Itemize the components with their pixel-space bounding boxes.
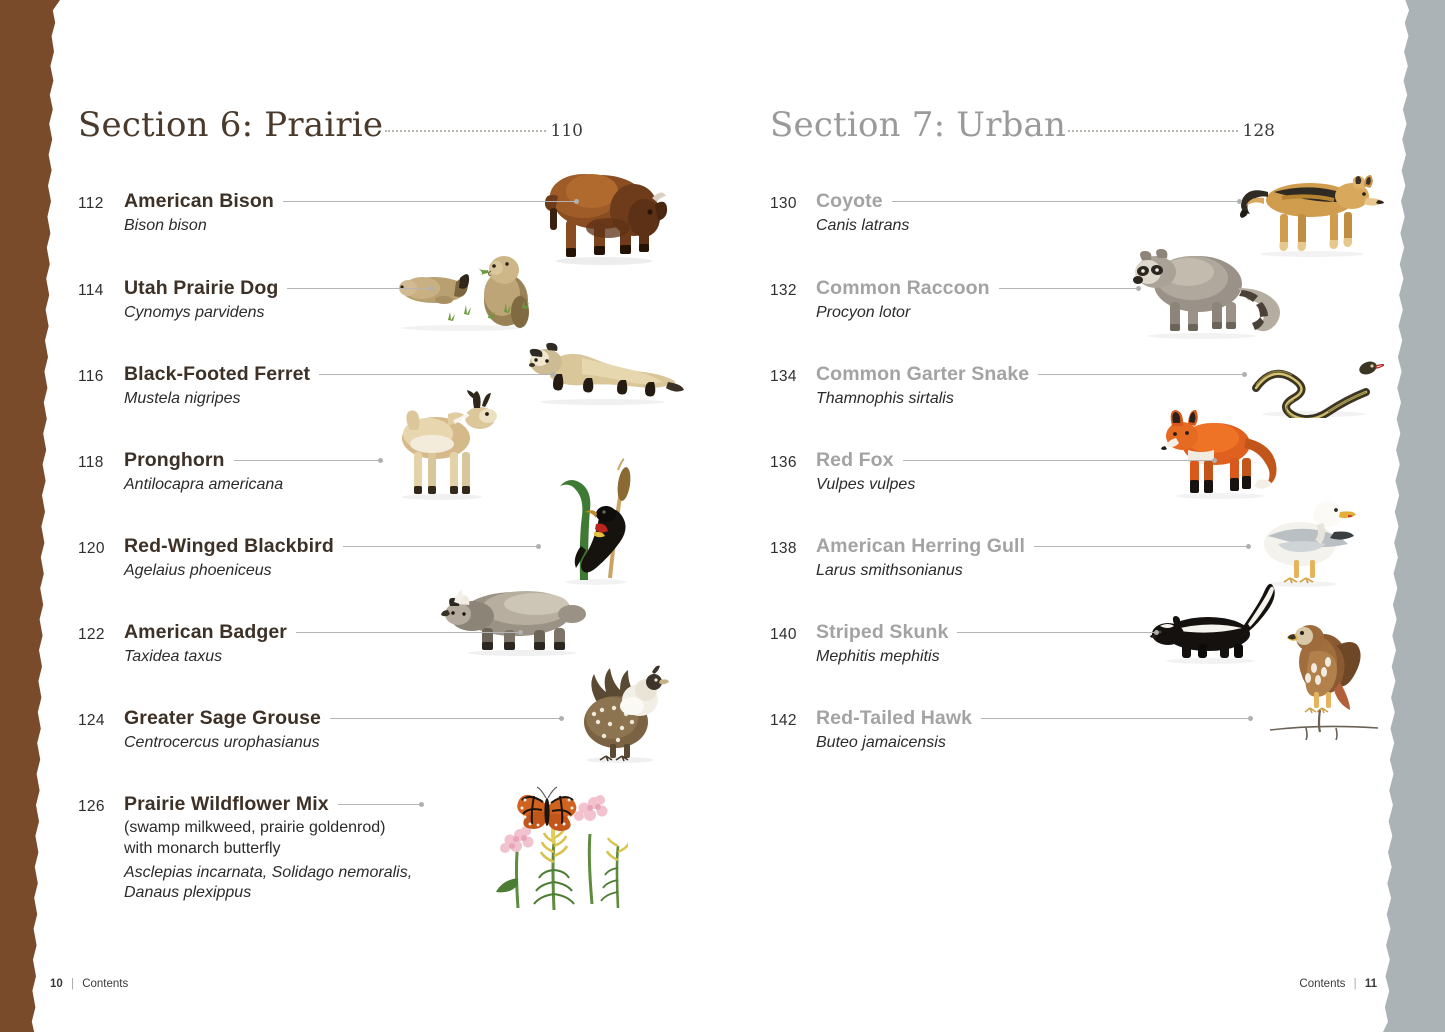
leader-line — [903, 460, 1215, 461]
leader-line — [1034, 546, 1249, 547]
entry-scientific-name: Larus smithsonianus — [816, 561, 1391, 581]
leader-line — [981, 718, 1251, 719]
entry-page-number: 136 — [770, 454, 814, 472]
entry-common-name: American Herring Gull — [816, 535, 1025, 558]
leader-line — [319, 374, 554, 375]
dot-leader — [1068, 130, 1237, 132]
page-footer: 10 | Contents Contents | 11 — [0, 962, 1445, 1032]
entry-common-name: Red-Tailed Hawk — [816, 707, 972, 730]
entry-common-name: Red Fox — [816, 449, 894, 472]
section-header-prairie[interactable]: Section 6: Prairie 110 — [78, 105, 583, 145]
footer-left: 10 | Contents — [50, 978, 128, 990]
entry-common-name: Striped Skunk — [816, 621, 948, 644]
footer-label-left: Contents — [82, 978, 128, 990]
leader-line — [287, 288, 432, 289]
leader-line — [296, 632, 521, 633]
entry-scientific-name: Mustela nigripes — [124, 389, 699, 409]
leader-line — [283, 201, 577, 202]
entry-page-number: 140 — [770, 626, 814, 644]
footer-separator: | — [1354, 978, 1357, 990]
entry-page-number: 118 — [78, 454, 122, 472]
leader-line — [330, 718, 562, 719]
leader-line — [343, 546, 539, 547]
column-left-section-6: Section 6: Prairie 110 112 American Biso… — [78, 0, 698, 940]
entry-page-number: 122 — [78, 626, 122, 644]
entry-page-number: 134 — [770, 368, 814, 386]
entry-scientific-name: Vulpes vulpes — [816, 475, 1391, 495]
entry-scientific-name: Asclepias incarnata, Solidago nemoralis,… — [124, 863, 699, 904]
leader-line — [957, 632, 1157, 633]
entry-page-number: 124 — [78, 712, 122, 730]
section-title: Section 6: Prairie — [78, 105, 383, 145]
entry-scientific-name: Cynomys parvidens — [124, 303, 699, 323]
leader-line — [338, 804, 422, 805]
dot-leader — [385, 130, 545, 132]
entry-common-name: Common Garter Snake — [816, 363, 1029, 386]
footer-separator: | — [71, 978, 74, 990]
section-header-urban[interactable]: Section 7: Urban 128 — [770, 105, 1275, 145]
entry-scientific-name: Canis latrans — [816, 216, 1391, 236]
entry-common-name: American Bison — [124, 190, 274, 213]
column-right-section-7: Section 7: Urban 128 130 Coyote Canis la… — [770, 0, 1390, 940]
entry-page-number: 142 — [770, 712, 814, 730]
entry-scientific-name: Thamnophis sirtalis — [816, 389, 1391, 409]
entry-scientific-name: Buteo jamaicensis — [816, 733, 1391, 753]
entry-common-name: Prairie Wildflower Mix — [124, 793, 329, 816]
footer-right: Contents | 11 — [1299, 978, 1377, 990]
entry-scientific-name: Bison bison — [124, 216, 699, 236]
entry-scientific-name: Procyon lotor — [816, 303, 1391, 323]
entry-common-name: American Badger — [124, 621, 287, 644]
section-page-number: 110 — [551, 121, 583, 141]
entry-page-number: 126 — [78, 798, 122, 816]
entry-page-number: 114 — [78, 282, 122, 300]
entry-common-name: Red-Winged Blackbird — [124, 535, 334, 558]
entry-page-number: 112 — [78, 195, 122, 213]
leader-line — [892, 201, 1240, 202]
entry-extra-note: (swamp milkweed, prairie goldenrod) with… — [124, 818, 699, 860]
section-page-number: 128 — [1243, 121, 1275, 141]
entry-common-name: Greater Sage Grouse — [124, 707, 321, 730]
entry-common-name: Pronghorn — [124, 449, 225, 472]
footer-page-number-left: 10 — [50, 978, 63, 990]
entry-scientific-name: Centrocercus urophasianus — [124, 733, 699, 753]
toc-columns: Section 6: Prairie 110 112 American Biso… — [0, 0, 1445, 940]
footer-label-right: Contents — [1299, 978, 1345, 990]
entry-scientific-name: Taxidea taxus — [124, 647, 699, 667]
leader-line — [999, 288, 1139, 289]
leader-line — [1038, 374, 1245, 375]
entry-scientific-name: Agelaius phoeniceus — [124, 561, 699, 581]
footer-page-number-right: 11 — [1365, 978, 1377, 990]
entry-page-number: 116 — [78, 368, 122, 386]
entry-scientific-name: Antilocapra americana — [124, 475, 699, 495]
entry-page-number: 132 — [770, 282, 814, 300]
toc-spread: Section 6: Prairie 110 112 American Biso… — [0, 0, 1445, 1032]
leader-line — [234, 460, 381, 461]
entry-page-number: 138 — [770, 540, 814, 558]
entry-page-number: 130 — [770, 195, 814, 213]
section-title: Section 7: Urban — [770, 105, 1066, 145]
entry-common-name: Black-Footed Ferret — [124, 363, 310, 386]
entry-scientific-name: Mephitis mephitis — [816, 647, 1391, 667]
entry-common-name: Utah Prairie Dog — [124, 277, 278, 300]
entry-common-name: Common Raccoon — [816, 277, 990, 300]
entry-common-name: Coyote — [816, 190, 883, 213]
entry-page-number: 120 — [78, 540, 122, 558]
